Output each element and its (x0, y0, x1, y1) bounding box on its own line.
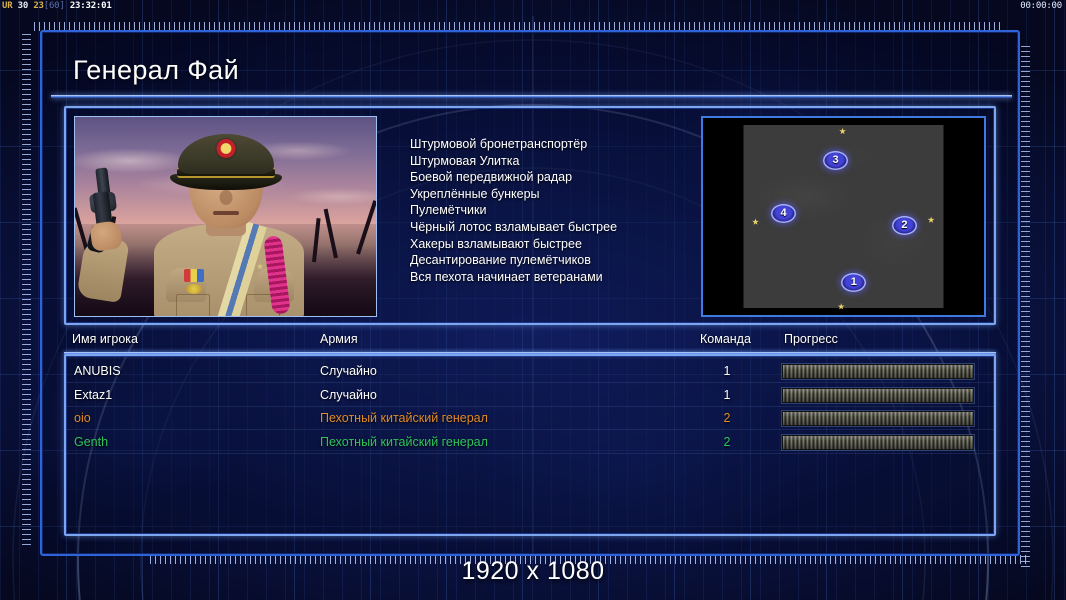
title-bar: Генерал Фай (73, 50, 1004, 94)
column-header-team: Команда (700, 332, 751, 346)
player-progress-bar (782, 388, 974, 403)
ability-item: Штурмовой бронетранспортёр (410, 136, 716, 153)
status-timer: 00:00:00 (1020, 0, 1062, 12)
general-portrait (74, 116, 377, 317)
player-progress-bar (782, 364, 974, 379)
lobby-window: Генерал Фай (40, 30, 1020, 556)
ability-item: Чёрный лотос взламывает быстрее (410, 219, 716, 236)
ability-item: Штурмовая Улитка (410, 153, 716, 170)
figure-torso (154, 224, 304, 317)
general-info-panel: Штурмовой бронетранспортёр Штурмовая Ули… (64, 106, 996, 325)
player-progress-bar (782, 411, 974, 426)
figure-medal-ribbon (184, 269, 204, 282)
player-name: Genth (74, 431, 108, 454)
status-bracket: [60] (44, 1, 65, 11)
table-row[interactable]: Extaz1Случайно1 (66, 384, 994, 407)
player-army[interactable]: Случайно (320, 360, 377, 383)
figure-hand (89, 220, 123, 252)
column-header-army: Армия (320, 332, 358, 346)
player-name: Extaz1 (74, 384, 112, 407)
resolution-overlay: 1920 x 1080 (0, 557, 1066, 586)
player-name: ANUBIS (74, 360, 121, 383)
row-divider (66, 453, 994, 454)
status-clock: 23:32:01 (70, 1, 112, 11)
player-team[interactable]: 2 (712, 407, 742, 430)
player-table: ANUBISСлучайно1Extaz1Случайно1oioПехотны… (64, 354, 996, 536)
ability-item: Десантирование пулемётчиков (410, 252, 716, 269)
player-team[interactable]: 2 (712, 431, 742, 454)
table-row[interactable]: GenthПехотный китайский генерал2 (66, 431, 994, 454)
ruler-ticks-left (22, 34, 31, 548)
figure-nose (219, 190, 232, 205)
status-bar-left: UR 30 23[60] 23:32:01 (2, 0, 112, 12)
column-header-name: Имя игрока (72, 332, 138, 346)
figure-medal (186, 284, 202, 294)
general-abilities-list: Штурмовой бронетранспортёр Штурмовая Ули… (410, 136, 716, 285)
figure-mouth (213, 211, 239, 215)
player-team[interactable]: 1 (712, 384, 742, 407)
title-divider (51, 95, 1012, 98)
map-preview[interactable]: 1234 (701, 116, 986, 317)
player-army[interactable]: Пехотный китайский генерал (320, 431, 488, 454)
map-start-position-4[interactable]: 4 (771, 204, 796, 223)
ability-item: Хакеры взламывают быстрее (410, 236, 716, 253)
ability-item: Укреплённые бункеры (410, 186, 716, 203)
status-value-1: 30 (18, 1, 28, 11)
ability-item: Вся пехота начинает ветеранами (410, 269, 716, 286)
cap-emblem (216, 139, 235, 158)
player-progress-bar (782, 435, 974, 450)
ability-item: Боевой передвижной радар (410, 169, 716, 186)
table-row[interactable]: ANUBISСлучайно1 (66, 360, 994, 383)
column-header-progress: Прогресс (784, 332, 838, 346)
game-lobby-screen: UR 30 23[60] 23:32:01 00:00:00 Генерал Ф… (0, 0, 1066, 600)
status-bar: UR 30 23[60] 23:32:01 00:00:00 (0, 0, 1066, 12)
status-value-2: 23 (33, 1, 43, 11)
player-name: oio (74, 407, 91, 430)
player-army[interactable]: Случайно (320, 384, 377, 407)
ruler-ticks-right (1021, 46, 1030, 570)
player-table-header: Имя игрока Армия Команда Прогресс (64, 332, 996, 352)
ability-item: Пулемётчики (410, 202, 716, 219)
figure-pocket-left (176, 294, 210, 317)
player-team[interactable]: 1 (712, 360, 742, 383)
page-title: Генерал Фай (73, 50, 1004, 90)
player-army[interactable]: Пехотный китайский генерал (320, 407, 488, 430)
status-tag: UR (2, 1, 12, 11)
table-row[interactable]: oioПехотный китайский генерал2 (66, 407, 994, 430)
